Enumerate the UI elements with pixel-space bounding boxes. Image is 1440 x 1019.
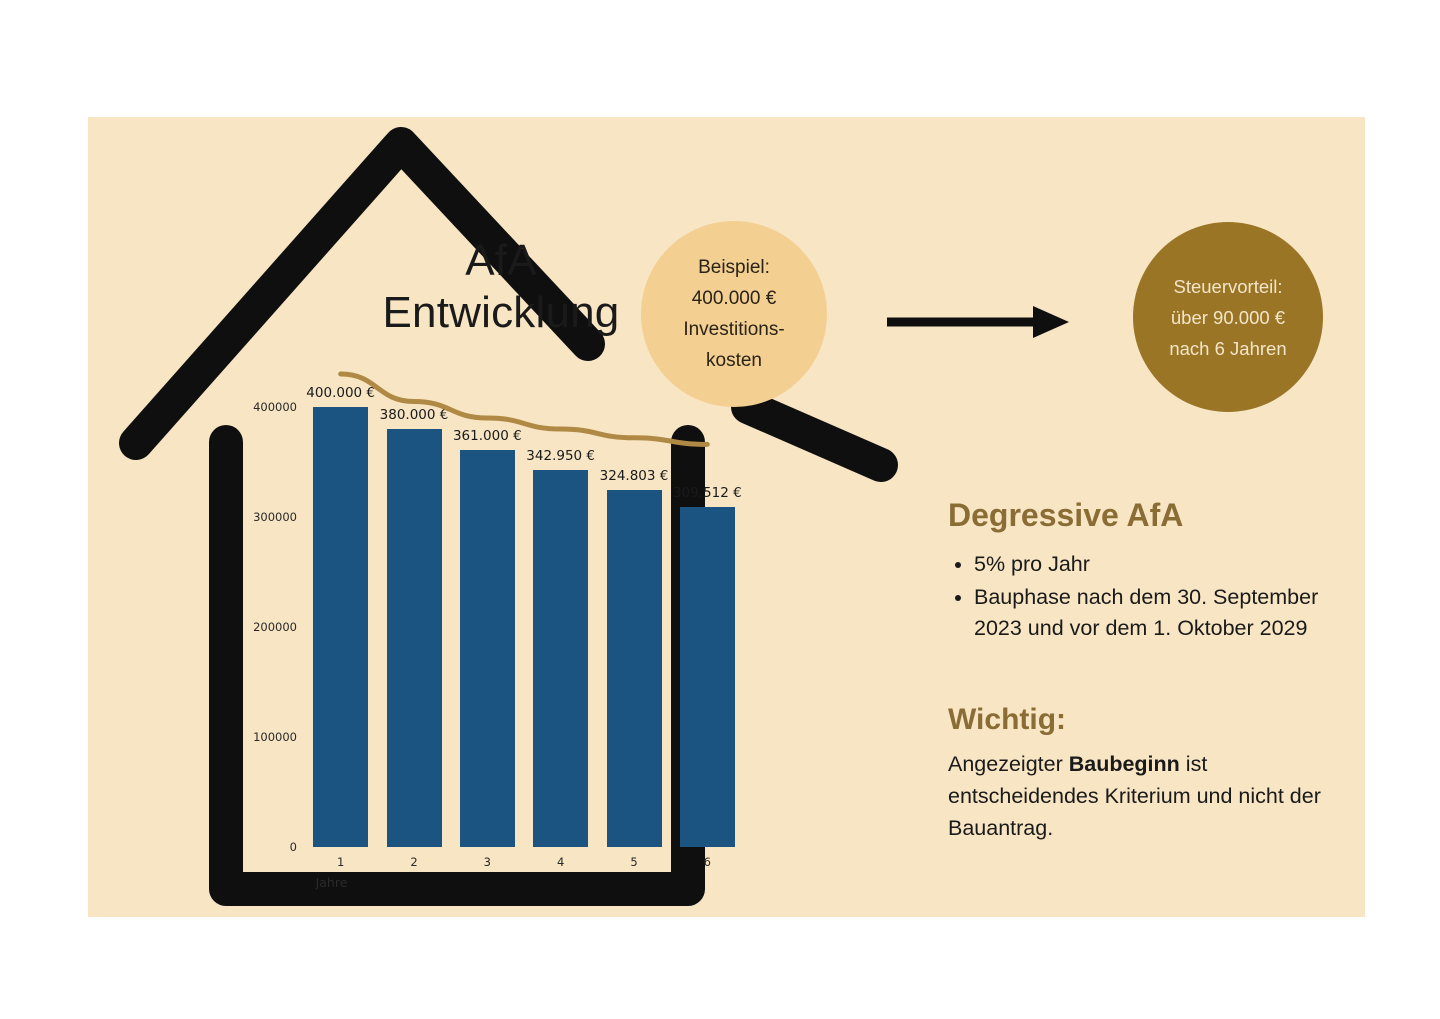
example-line-3: Investitions- (683, 314, 784, 345)
page-title: AfA Entwicklung (351, 235, 651, 339)
x-axis-tick: 4 (533, 855, 588, 869)
title-line-2: Entwicklung (351, 287, 651, 339)
list-item: 5% pro Jahr (974, 549, 1348, 580)
x-axis-tick: 5 (607, 855, 662, 869)
arrow-right-icon (883, 302, 1073, 342)
trend-line (304, 407, 744, 847)
y-axis-tick: 300000 (253, 510, 304, 524)
x-axis-tick: 1 (313, 855, 368, 869)
y-axis-tick: 200000 (253, 620, 304, 634)
important-text: Angezeigter Baubeginn ist entscheidendes… (948, 748, 1348, 844)
example-line-4: kosten (683, 345, 784, 376)
tax-benefit-circle: Steuervorteil: über 90.000 € nach 6 Jahr… (1133, 222, 1323, 412)
chart-plot-area: 0100000200000300000400000 1400.000 €2380… (304, 407, 744, 847)
y-axis-tick: 400000 (253, 400, 304, 414)
x-axis-tick: 3 (460, 855, 515, 869)
benefit-line-2: über 90.000 € (1169, 302, 1286, 333)
infographic-page: AfA Entwicklung Beispiel: 400.000 € Inve… (0, 0, 1440, 1019)
x-axis-title: Jahre (304, 875, 359, 890)
important-heading: Wichtig: (948, 700, 1348, 740)
title-line-1: AfA (351, 235, 651, 287)
y-axis-tick: 100000 (253, 730, 304, 744)
important-block: Wichtig: Angezeigter Baubeginn ist entsc… (948, 700, 1348, 844)
bar-value-label: 400.000 € (306, 385, 375, 401)
x-axis-tick: 6 (680, 855, 735, 869)
example-line-1: Beispiel: (683, 252, 784, 283)
benefit-line-3: nach 6 Jahren (1169, 333, 1286, 364)
y-axis-tick: 0 (290, 840, 304, 854)
degressive-afa-bullets: 5% pro JahrBauphase nach dem 30. Septemb… (948, 549, 1348, 644)
degressive-afa-heading: Degressive AfA (948, 495, 1348, 535)
x-axis-tick: 2 (387, 855, 442, 869)
important-text-bold: Baubeginn (1069, 752, 1180, 776)
example-cost-circle: Beispiel: 400.000 € Investitions- kosten (641, 221, 827, 407)
roof-right-slope (748, 407, 881, 465)
benefit-line-1: Steuervorteil: (1169, 271, 1286, 302)
example-line-2: 400.000 € (683, 283, 784, 314)
infographic-panel: AfA Entwicklung Beispiel: 400.000 € Inve… (88, 117, 1365, 917)
important-text-part-1: Angezeigter (948, 752, 1069, 776)
afa-bar-chart: 0100000200000300000400000 1400.000 €2380… (238, 387, 758, 967)
list-item: Bauphase nach dem 30. September 2023 und… (974, 582, 1348, 644)
right-text-column: Degressive AfA 5% pro JahrBauphase nach … (948, 495, 1348, 844)
